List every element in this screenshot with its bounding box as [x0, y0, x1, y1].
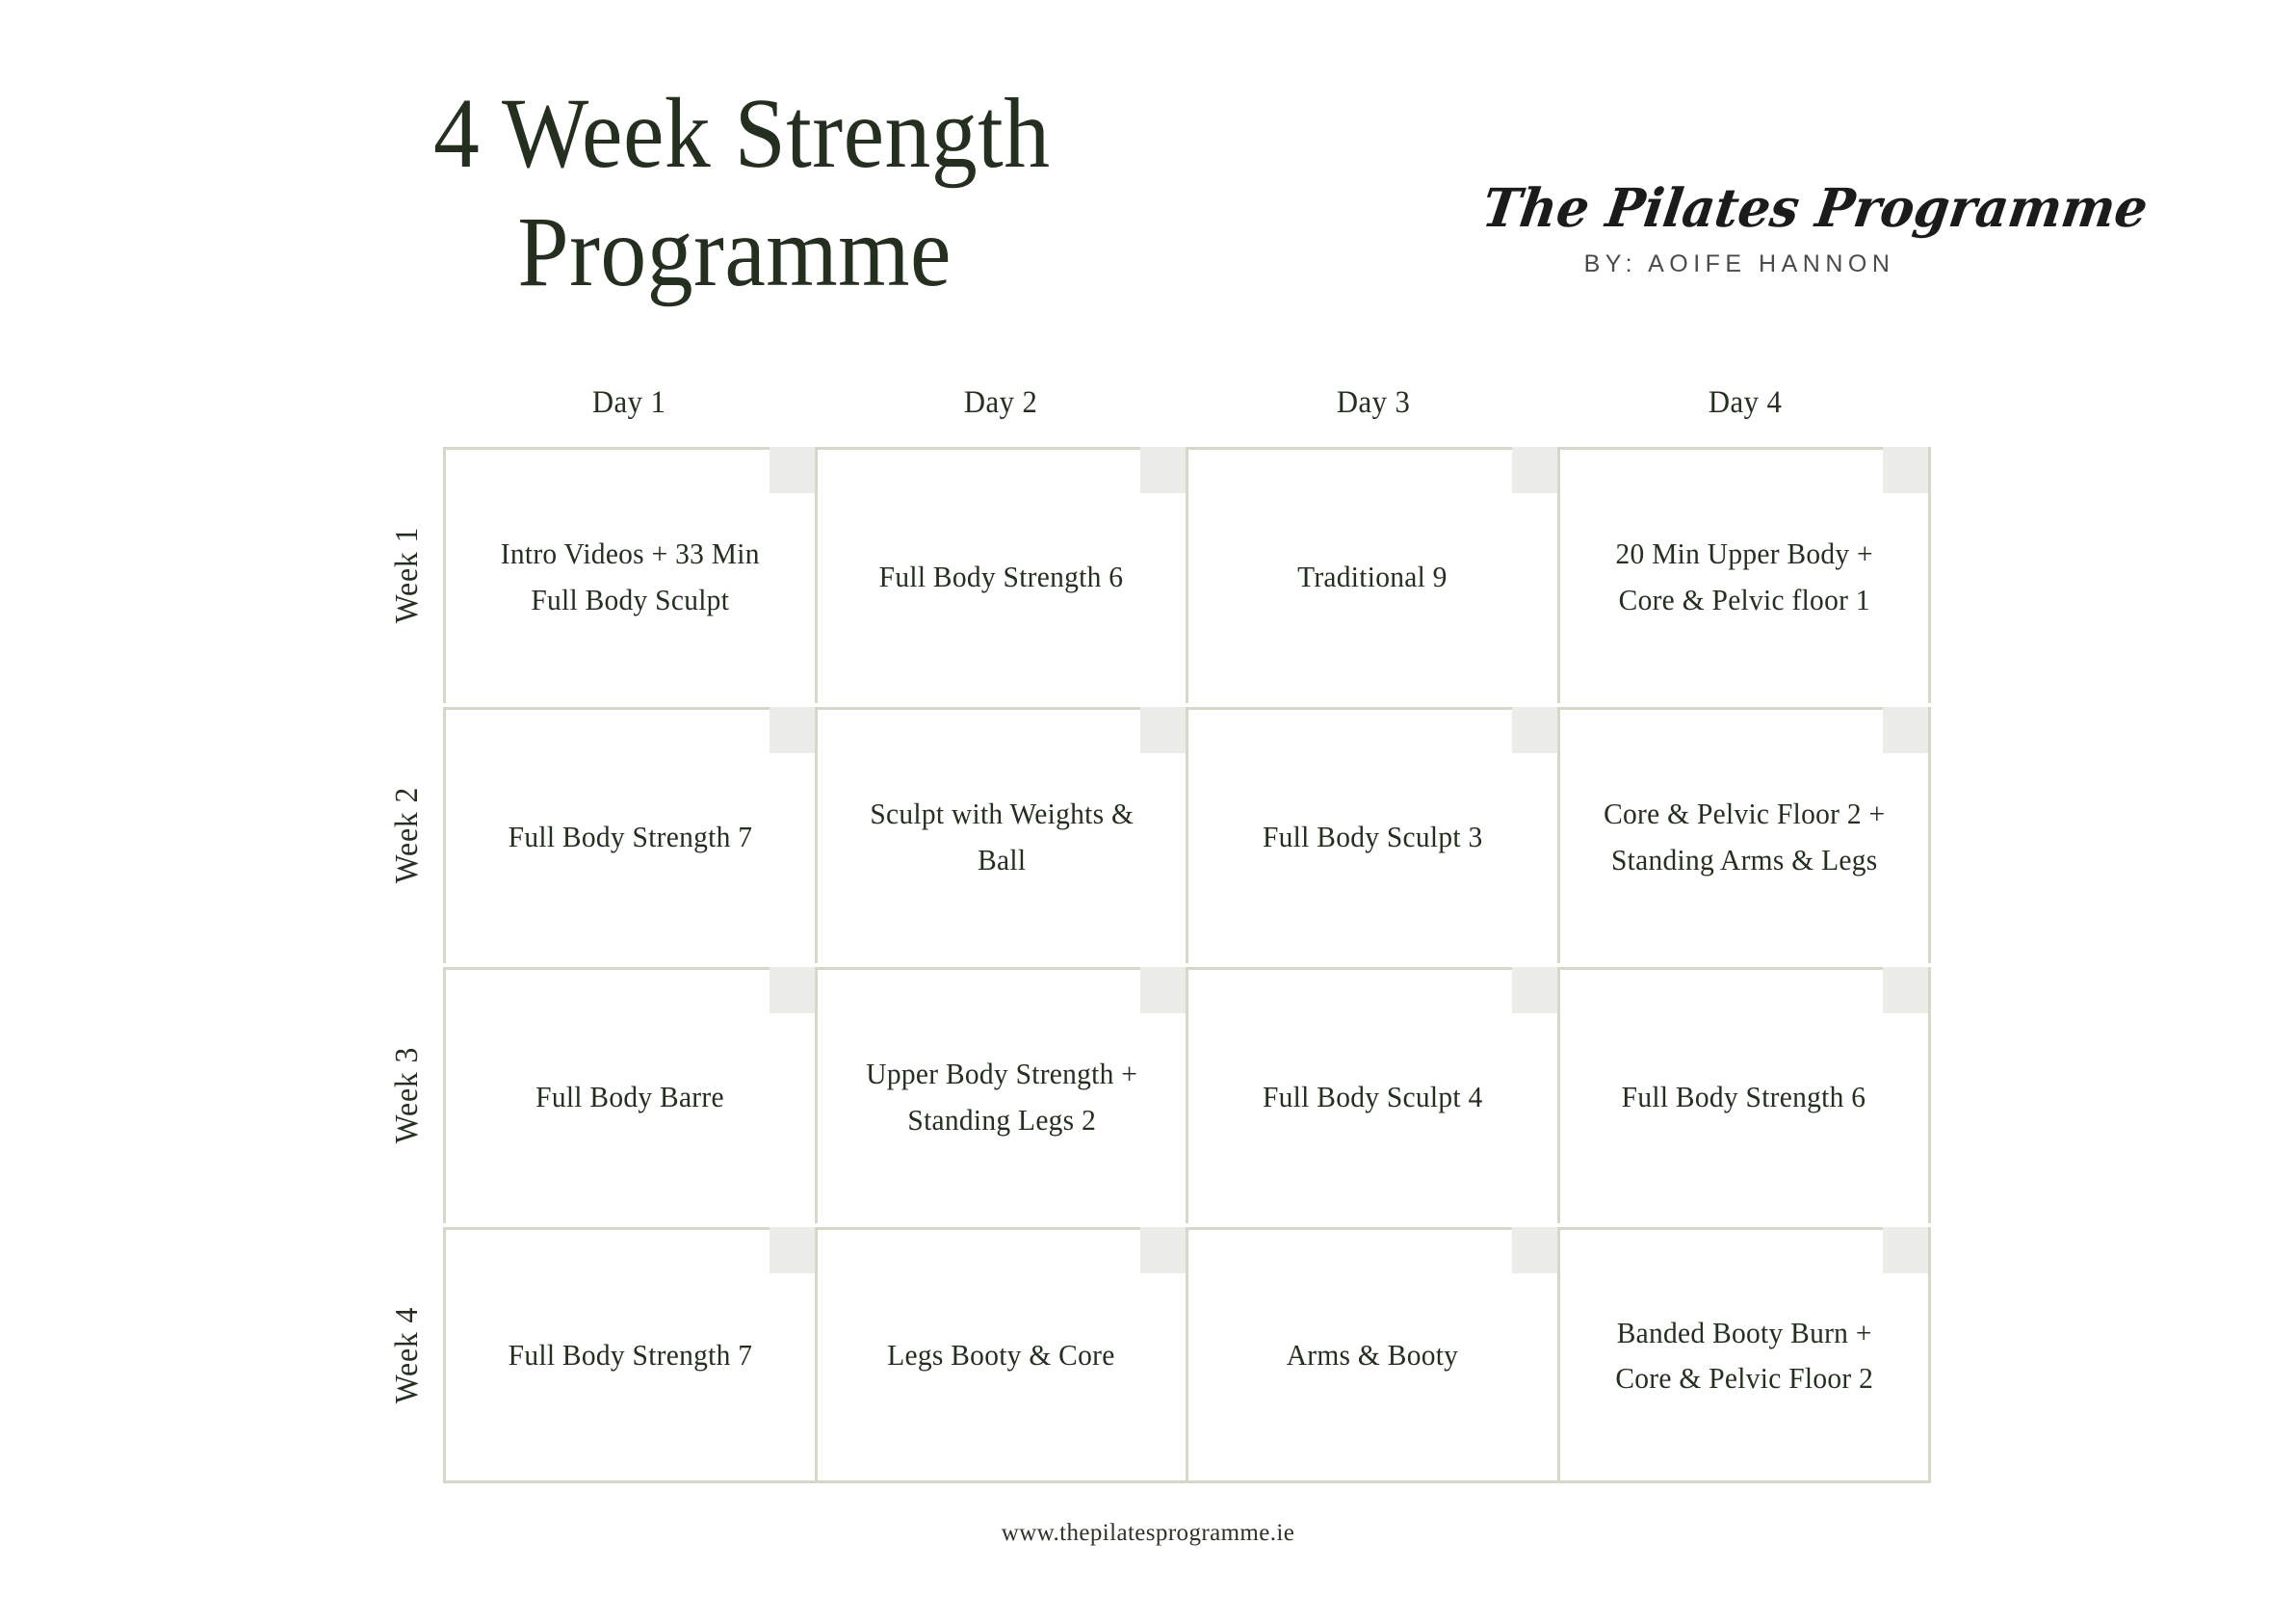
page-footer: www.thepilatesprogramme.ie — [0, 1520, 2296, 1547]
page-title: 4 Week Strength Programme — [318, 75, 1213, 311]
workout-label: Traditional 9 — [1297, 554, 1448, 599]
table-row: Full Body Strength 7 Legs Booty & Core A… — [443, 1227, 1931, 1483]
page-title-line-1: 4 Week Strength — [353, 75, 1178, 194]
workout-cell-w1d4[interactable]: 20 Min Upper Body + Core & Pelvic floor … — [1557, 450, 1929, 703]
table-row: Full Body Barre Upper Body Strength + St… — [443, 967, 1931, 1223]
workout-cell-w2d1[interactable]: Full Body Strength 7 — [446, 710, 815, 963]
workout-cell-w4d2[interactable]: Legs Booty & Core — [815, 1230, 1187, 1480]
workout-label: Banded Booty Burn + Core & Pelvic Floor … — [1597, 1310, 1892, 1400]
corner-tab-decoration — [770, 447, 815, 493]
week-row-headers: Week 1 Week 2 Week 3 Week 4 — [376, 447, 439, 1483]
schedule-grid: Intro Videos + 33 Min Full Body Sculpt F… — [443, 447, 1931, 1483]
website-url: www.thepilatesprogramme.ie — [1002, 1520, 1295, 1546]
workout-cell-w3d2[interactable]: Upper Body Strength + Standing Legs 2 — [815, 970, 1187, 1223]
workout-label: Arms & Booty — [1287, 1332, 1458, 1377]
workout-cell-w2d4[interactable]: Core & Pelvic Floor 2 + Standing Arms & … — [1557, 710, 1929, 963]
workout-label: Core & Pelvic Floor 2 + Standing Arms & … — [1597, 791, 1892, 881]
corner-tab-decoration — [1140, 967, 1186, 1013]
day-header-3: Day 3 — [1200, 385, 1546, 421]
day-header-1: Day 1 — [457, 385, 802, 421]
workout-label: Full Body Barre — [535, 1074, 724, 1119]
workout-cell-w3d4[interactable]: Full Body Strength 6 — [1557, 970, 1929, 1223]
week-label-slot-1: Week 1 — [376, 447, 439, 703]
corner-tab-decoration — [1140, 1227, 1186, 1273]
brand-logo-script: The Pilates Programme — [1479, 181, 1999, 234]
workout-label: Full Body Sculpt 4 — [1263, 1074, 1483, 1119]
corner-tab-decoration — [1883, 707, 1928, 753]
workout-label: Full Body Sculpt 3 — [1263, 814, 1483, 859]
workout-label: Full Body Strength 6 — [1622, 1074, 1866, 1119]
page-title-line-2: Programme — [353, 194, 1178, 312]
table-row: Intro Videos + 33 Min Full Body Sculpt F… — [443, 447, 1931, 703]
workout-cell-w1d2[interactable]: Full Body Strength 6 — [815, 450, 1187, 703]
workout-cell-w3d1[interactable]: Full Body Barre — [446, 970, 815, 1223]
week-label-1: Week 1 — [389, 527, 426, 623]
corner-tab-decoration — [1140, 447, 1186, 493]
corner-tab-decoration — [1512, 447, 1557, 493]
corner-tab-decoration — [1883, 967, 1928, 1013]
workout-label: Sculpt with Weights & Ball — [854, 791, 1149, 881]
corner-tab-decoration — [1883, 447, 1928, 493]
corner-tab-decoration — [1512, 1227, 1557, 1273]
workout-label: 20 Min Upper Body + Core & Pelvic floor … — [1597, 531, 1892, 621]
corner-tab-decoration — [770, 707, 815, 753]
corner-tab-decoration — [1883, 1227, 1928, 1273]
week-label-slot-4: Week 4 — [376, 1227, 439, 1483]
day-header-2: Day 2 — [828, 385, 1174, 421]
corner-tab-decoration — [770, 1227, 815, 1273]
week-label-2: Week 2 — [389, 787, 426, 883]
brand-logo: The Pilates Programme BY: AOIFE HANNON — [1470, 181, 2009, 278]
workout-cell-w2d2[interactable]: Sculpt with Weights & Ball — [815, 710, 1187, 963]
day-header-4: Day 4 — [1572, 385, 1918, 421]
workout-cell-w4d3[interactable]: Arms & Booty — [1186, 1230, 1557, 1480]
workout-cell-w1d3[interactable]: Traditional 9 — [1186, 450, 1557, 703]
workout-label: Full Body Strength 7 — [508, 1332, 752, 1377]
week-label-4: Week 4 — [389, 1307, 426, 1403]
corner-tab-decoration — [1140, 707, 1186, 753]
workout-cell-w4d1[interactable]: Full Body Strength 7 — [446, 1230, 815, 1480]
workout-cell-w2d3[interactable]: Full Body Sculpt 3 — [1186, 710, 1557, 963]
workout-cell-w3d3[interactable]: Full Body Sculpt 4 — [1186, 970, 1557, 1223]
day-column-headers: Day 1 Day 2 Day 3 Day 4 — [443, 385, 1931, 421]
corner-tab-decoration — [770, 967, 815, 1013]
week-label-slot-2: Week 2 — [376, 707, 439, 963]
brand-logo-byline: BY: AOIFE HANNON — [1470, 250, 2009, 278]
workout-cell-w4d4[interactable]: Banded Booty Burn + Core & Pelvic Floor … — [1557, 1230, 1929, 1480]
workout-label: Full Body Strength 7 — [508, 814, 752, 859]
page-header: 4 Week Strength Programme The Pilates Pr… — [0, 0, 2296, 385]
week-label-3: Week 3 — [389, 1047, 426, 1143]
workout-label: Upper Body Strength + Standing Legs 2 — [854, 1051, 1149, 1141]
workout-cell-w1d1[interactable]: Intro Videos + 33 Min Full Body Sculpt — [446, 450, 815, 703]
week-label-slot-3: Week 3 — [376, 967, 439, 1223]
corner-tab-decoration — [1512, 707, 1557, 753]
workout-label: Legs Booty & Core — [888, 1332, 1115, 1377]
workout-label: Intro Videos + 33 Min Full Body Sculpt — [483, 531, 777, 621]
corner-tab-decoration — [1512, 967, 1557, 1013]
table-row: Full Body Strength 7 Sculpt with Weights… — [443, 707, 1931, 963]
workout-label: Full Body Strength 6 — [879, 554, 1124, 599]
